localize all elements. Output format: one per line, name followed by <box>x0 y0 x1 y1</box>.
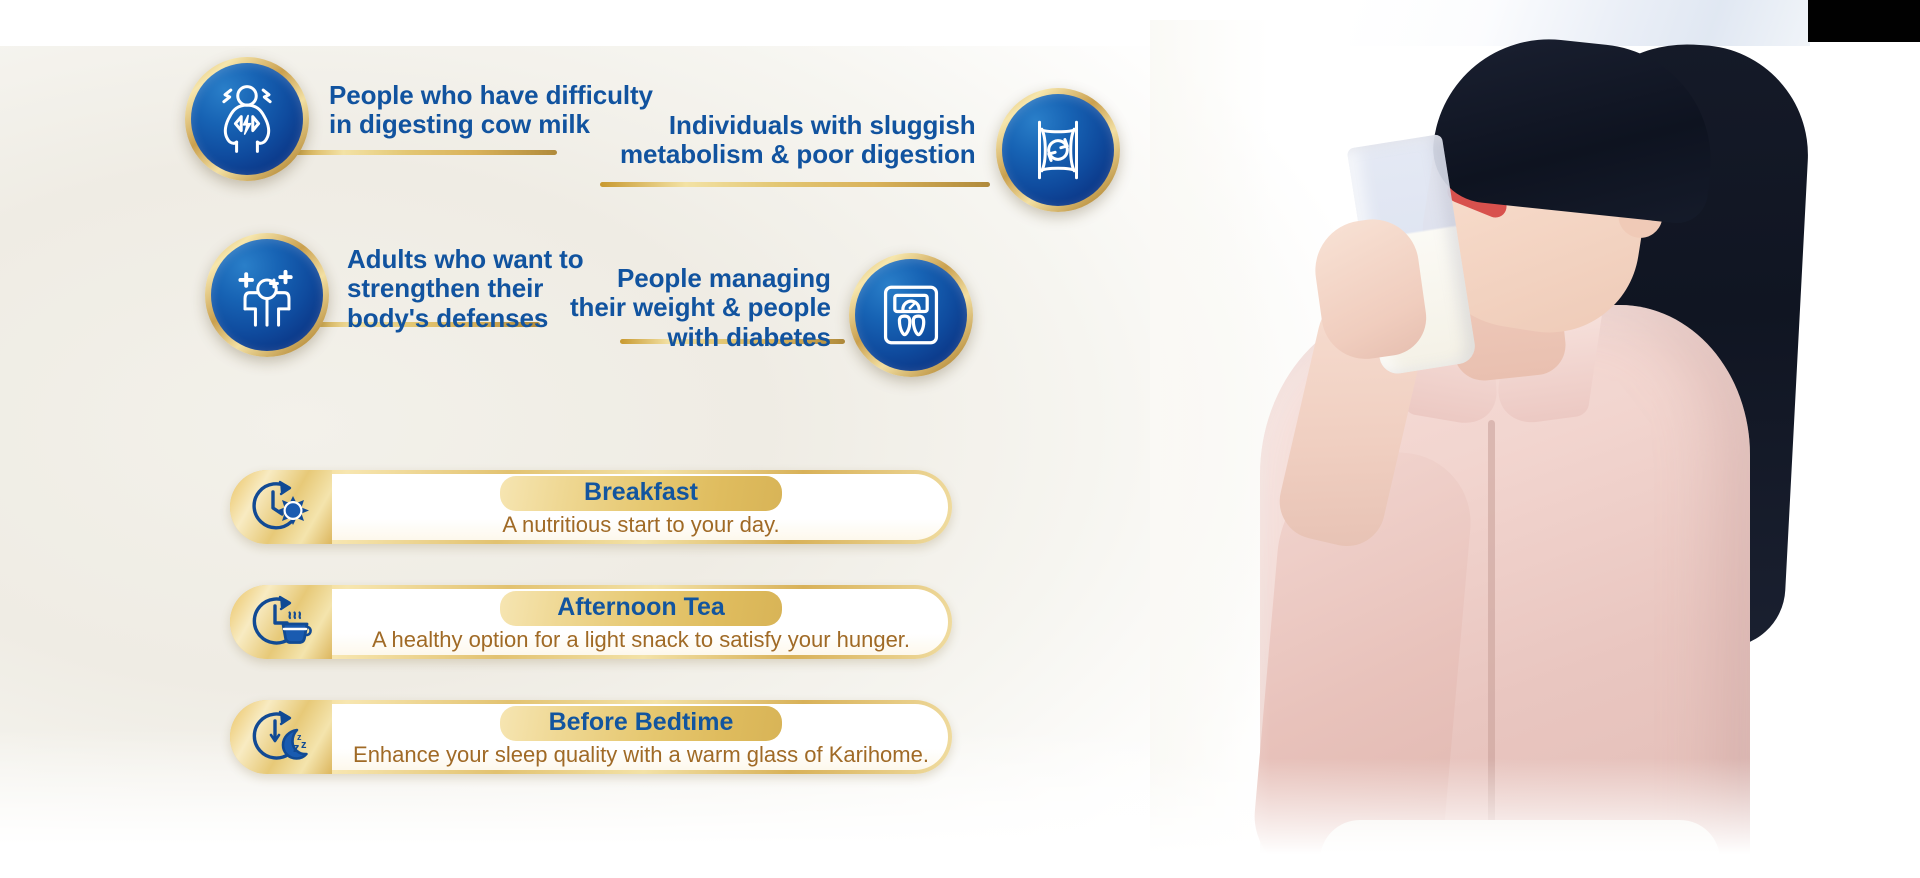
weighing-scale-icon <box>874 278 948 352</box>
benefit-label-2: Individuals with sluggish metabolism & p… <box>620 111 976 189</box>
benefit-badge-3 <box>205 233 329 357</box>
badge-inner-2 <box>1002 94 1114 206</box>
occasion-card-before-bedtime[interactable]: z z z Before Bedtime Enhance your sleep … <box>230 700 952 774</box>
photo-left-fade <box>1150 20 1270 878</box>
benefit-item-weight-diabetes: People managing their weight & people wi… <box>570 253 973 377</box>
occasion-title-wrap: Breakfast <box>340 476 942 511</box>
svg-text:z: z <box>301 739 307 751</box>
badge-inner-1 <box>191 63 303 175</box>
occasion-title-breakfast: Breakfast <box>500 476 782 511</box>
svg-text:z: z <box>293 740 300 755</box>
immunity-strong-person-icon <box>230 258 304 332</box>
clock-teacup-icon <box>249 593 313 651</box>
occasion-subtitle-before-bedtime: Enhance your sleep quality with a warm g… <box>340 742 942 768</box>
occasion-title-wrap: Before Bedtime <box>340 706 942 741</box>
occasion-card-content: Breakfast A nutritious start to your day… <box>340 476 942 538</box>
occasion-subtitle-breakfast: A nutritious start to your day. <box>340 512 942 538</box>
badge-inner-4 <box>855 259 967 371</box>
occasion-icon-holder <box>230 585 332 659</box>
benefit-badge-2 <box>996 88 1120 212</box>
occasion-card-content: Before Bedtime Enhance your sleep qualit… <box>340 706 942 768</box>
benefit-label-1: People who have difficulty in digesting … <box>329 81 653 157</box>
clock-moon-icon: z z z <box>249 708 313 766</box>
benefit-label-4: People managing their weight & people wi… <box>570 264 831 365</box>
occasion-card-body: z z z Before Bedtime Enhance your sleep … <box>234 704 948 770</box>
occasion-card-content: Afternoon Tea A healthy option for a lig… <box>340 591 942 653</box>
occasion-title-wrap: Afternoon Tea <box>340 591 942 626</box>
benefit-item-sluggish-metabolism: Individuals with sluggish metabolism & p… <box>620 88 1120 212</box>
occasion-card-breakfast[interactable]: Breakfast A nutritious start to your day… <box>230 470 952 544</box>
benefit-item-digestion-difficulty: People who have difficulty in digesting … <box>185 57 653 181</box>
occasion-card-afternoon-tea[interactable]: Afternoon Tea A healthy option for a lig… <box>230 585 952 659</box>
occasion-subtitle-afternoon-tea: A healthy option for a light snack to sa… <box>340 627 942 653</box>
occasion-icon-holder <box>230 470 332 544</box>
benefit-item-body-defenses: Adults who want to strengthen their body… <box>205 233 584 357</box>
benefit-label-3: Adults who want to strengthen their body… <box>347 245 584 344</box>
benefit-badge-1 <box>185 57 309 181</box>
occasion-title-afternoon-tea: Afternoon Tea <box>500 591 782 626</box>
stomach-discomfort-icon <box>210 82 284 156</box>
occasion-icon-holder: z z z <box>230 700 332 774</box>
occasion-card-body: Breakfast A nutritious start to your day… <box>234 474 948 540</box>
woman-drinking-milk-photo <box>1150 20 1920 878</box>
occasion-title-before-bedtime: Before Bedtime <box>500 706 782 741</box>
clock-sun-icon <box>249 478 313 536</box>
badge-inner-3 <box>211 239 323 351</box>
occasion-card-body: Afternoon Tea A healthy option for a lig… <box>234 589 948 655</box>
photo-bottom-fade <box>1150 758 1920 878</box>
infographic-stage: People who have difficulty in digesting … <box>0 0 1920 878</box>
benefit-badge-4 <box>849 253 973 377</box>
metabolism-waist-icon <box>1021 113 1095 187</box>
